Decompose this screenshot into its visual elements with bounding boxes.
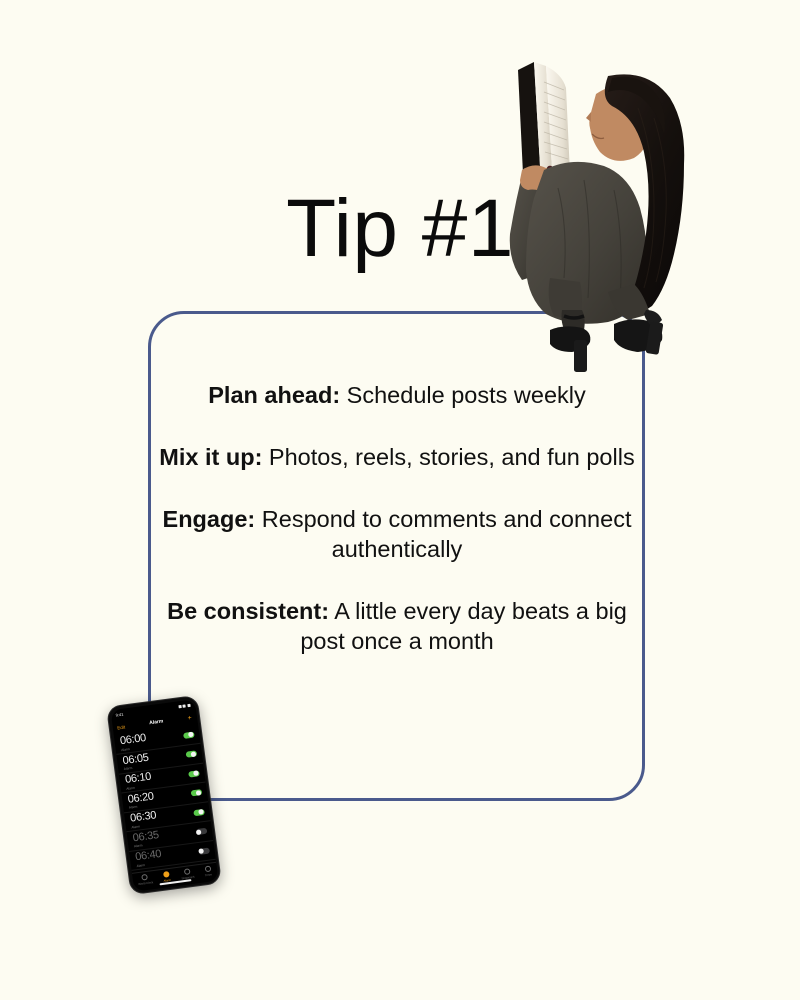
- alarm-meta: 06:30 Alarm: [130, 810, 158, 829]
- status-icons: [178, 704, 190, 709]
- tab-label: World Clock: [138, 880, 153, 886]
- alarm-meta: 06:10 Alarm: [125, 772, 153, 791]
- tip-lead: Engage:: [163, 506, 256, 532]
- woman-reading-book-photo: [488, 48, 723, 373]
- add-alarm-button[interactable]: +: [187, 714, 192, 721]
- tip-lead: Be consistent:: [167, 598, 329, 624]
- alarm-toggle[interactable]: [193, 809, 205, 816]
- timer-icon: [204, 865, 211, 872]
- book-illustration: [518, 62, 570, 174]
- left-shoe: [550, 326, 590, 372]
- tip-item: Be consistent: A little every day beats …: [150, 596, 644, 656]
- tip-lead: Plan ahead:: [208, 382, 340, 408]
- status-time: 9:41: [115, 712, 123, 718]
- tips-list: Plan ahead: Schedule posts weekly Mix it…: [150, 380, 644, 656]
- tip-body: A little every day beats a big post once…: [300, 598, 627, 654]
- tab-world-clock[interactable]: World Clock: [137, 873, 153, 886]
- alarm-meta: 06:00 Alarm: [119, 733, 147, 752]
- tip-body: Respond to comments and connect authenti…: [255, 506, 631, 562]
- alarm-toggle[interactable]: [190, 789, 202, 796]
- tip-body: Photos, reels, stories, and fun polls: [262, 444, 634, 470]
- wifi-icon: [182, 704, 185, 707]
- tip-body: Schedule posts weekly: [340, 382, 586, 408]
- edit-button[interactable]: Edit: [117, 724, 125, 730]
- alarm-meta: 06:05 Alarm: [122, 752, 150, 771]
- signal-icon: [178, 705, 181, 708]
- battery-icon: [187, 704, 190, 707]
- alarm-meta: 06:40 Alarm: [135, 849, 163, 868]
- poster-canvas: Tip #1 Plan ahead: Schedule posts weekly…: [0, 0, 800, 1000]
- alarm-toggle[interactable]: [188, 770, 200, 777]
- alarm-meta: 06:35 Alarm: [132, 830, 160, 849]
- alarm-meta: 06:20 Alarm: [127, 791, 155, 810]
- tip-item: Plan ahead: Schedule posts weekly: [150, 380, 644, 410]
- tab-label: Timer: [205, 872, 213, 877]
- alarm-toggle[interactable]: [185, 751, 197, 758]
- tab-timer[interactable]: Timer: [204, 865, 212, 877]
- tip-item: Mix it up: Photos, reels, stories, and f…: [150, 442, 644, 472]
- globe-icon: [141, 873, 148, 880]
- alarm-icon: [163, 870, 170, 877]
- tab-alarm[interactable]: Alarm: [162, 870, 171, 882]
- stopwatch-icon: [184, 868, 191, 875]
- alarm-list[interactable]: 06:00 Alarm 06:05 Alarm: [113, 724, 215, 873]
- nav-title: Alarm: [149, 718, 164, 726]
- tip-lead: Mix it up:: [159, 444, 262, 470]
- tab-stopwatch[interactable]: Stopwatch: [180, 867, 194, 880]
- alarm-toggle[interactable]: [195, 828, 207, 835]
- alarm-toggle[interactable]: [198, 847, 210, 854]
- tip-item: Engage: Respond to comments and connect …: [150, 504, 644, 564]
- alarm-toggle[interactable]: [183, 731, 195, 738]
